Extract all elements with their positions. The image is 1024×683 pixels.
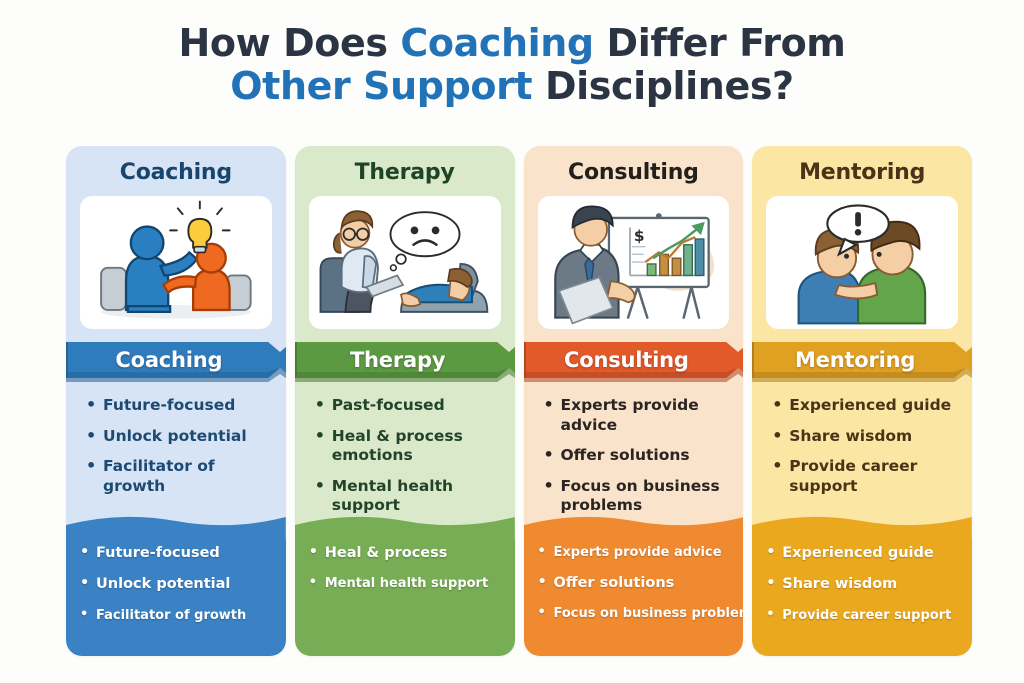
bullet-item: Provide career support <box>766 608 966 624</box>
bullet-item: Share wisdom <box>766 576 966 593</box>
title-highlight-other-support: Other Support <box>230 64 532 108</box>
bullet-item: Facilitator of growth <box>86 457 276 496</box>
therapist-and-patient-couch-illustration <box>309 196 501 329</box>
bullet-item: Experts provide advice <box>538 545 738 561</box>
ribbon-banner-coaching: Coaching <box>66 338 286 382</box>
bullet-item: Past-focused <box>315 396 505 416</box>
bullet-item: Experts provide advice <box>544 396 734 435</box>
title-text-3: Disciplines? <box>532 64 794 108</box>
title-text-1: How Does <box>179 21 401 65</box>
bullet-list-bottom-consulting: Experts provide adviceOffer solutionsFoc… <box>538 545 738 636</box>
ribbon-label-consulting: Consulting <box>524 338 744 382</box>
discipline-column-consulting[interactable]: Consulting $ <box>524 146 744 656</box>
bullet-item: Provide career support <box>772 457 962 496</box>
bullet-list-top-mentoring: Experienced guideShare wisdomProvide car… <box>772 396 962 507</box>
discipline-column-mentoring[interactable]: Mentoring MentoringExperienced guideShar… <box>752 146 972 656</box>
bullet-list-top-consulting: Experts provide adviceOffer solutionsFoc… <box>544 396 734 527</box>
ribbon-banner-consulting: Consulting <box>524 338 744 382</box>
ribbon-label-coaching: Coaching <box>66 338 286 382</box>
column-heading-consulting: Consulting <box>524 160 744 185</box>
discipline-column-coaching[interactable]: Coaching CoachingFuture-focuse <box>66 146 286 656</box>
bullet-list-bottom-therapy: Heal & processMental health support <box>309 545 509 606</box>
bullet-item: Future-focused <box>80 545 280 562</box>
bullet-item: Future-focused <box>86 396 276 416</box>
infographic-page: How Does Coaching Differ From Other Supp… <box>0 0 1024 683</box>
page-title: How Does Coaching Differ From Other Supp… <box>0 22 1024 109</box>
bullet-item: Heal & process <box>309 545 509 562</box>
bullet-item: Mental health support <box>309 576 509 592</box>
title-line-1: How Does Coaching Differ From <box>0 22 1024 65</box>
title-text-2: Differ From <box>594 21 846 65</box>
discipline-column-therapy[interactable]: Therapy TherapyPa <box>295 146 515 656</box>
ribbon-banner-mentoring: Mentoring <box>752 338 972 382</box>
summary-band-mentoring: Experienced guideShare wisdomProvide car… <box>752 511 972 656</box>
wave-divider-icon <box>66 511 286 541</box>
bullet-list-top-therapy: Past-focusedHeal & process emotionsMenta… <box>315 396 505 527</box>
bullet-item: Unlock potential <box>86 427 276 447</box>
bullet-item: Experienced guide <box>772 396 962 416</box>
bullet-item: Experienced guide <box>766 545 966 562</box>
wave-divider-icon <box>295 511 515 541</box>
column-heading-mentoring: Mentoring <box>752 160 972 185</box>
bullet-item: Offer solutions <box>538 575 738 592</box>
ribbon-label-therapy: Therapy <box>295 338 515 382</box>
wave-divider-icon <box>752 511 972 541</box>
bullet-item: Heal & process emotions <box>315 427 505 466</box>
title-line-2: Other Support Disciplines? <box>0 65 1024 108</box>
svg-text:$: $ <box>633 227 644 245</box>
summary-band-therapy: Heal & processMental health support <box>295 511 515 656</box>
bullet-list-bottom-coaching: Future-focusedUnlock potentialFacilitato… <box>80 545 280 637</box>
discipline-columns: Coaching CoachingFuture-focuse <box>66 146 972 656</box>
bullet-item: Focus on business problems <box>544 477 734 516</box>
bullet-item: Focus on business problems <box>538 606 738 622</box>
column-heading-therapy: Therapy <box>295 160 515 185</box>
summary-band-consulting: Experts provide adviceOffer solutionsFoc… <box>524 511 744 656</box>
summary-band-coaching: Future-focusedUnlock potentialFacilitato… <box>66 511 286 656</box>
bullet-item: Mental health support <box>315 477 505 516</box>
bullet-item: Unlock potential <box>80 576 280 593</box>
coach-and-client-lightbulb-illustration <box>80 196 272 329</box>
consultant-flipchart-growth-chart-illustration: $ <box>538 196 730 329</box>
mentor-and-mentee-speech-bubble-illustration <box>766 196 958 329</box>
column-heading-coaching: Coaching <box>66 160 286 185</box>
bullet-list-top-coaching: Future-focusedUnlock potentialFacilitato… <box>86 396 276 507</box>
ribbon-banner-therapy: Therapy <box>295 338 515 382</box>
bullet-item: Offer solutions <box>544 446 734 466</box>
title-highlight-coaching: Coaching <box>400 21 593 65</box>
bullet-item: Facilitator of growth <box>80 608 280 624</box>
wave-divider-icon <box>524 511 744 541</box>
bullet-item: Share wisdom <box>772 427 962 447</box>
ribbon-label-mentoring: Mentoring <box>752 338 972 382</box>
bullet-list-bottom-mentoring: Experienced guideShare wisdomProvide car… <box>766 545 966 637</box>
